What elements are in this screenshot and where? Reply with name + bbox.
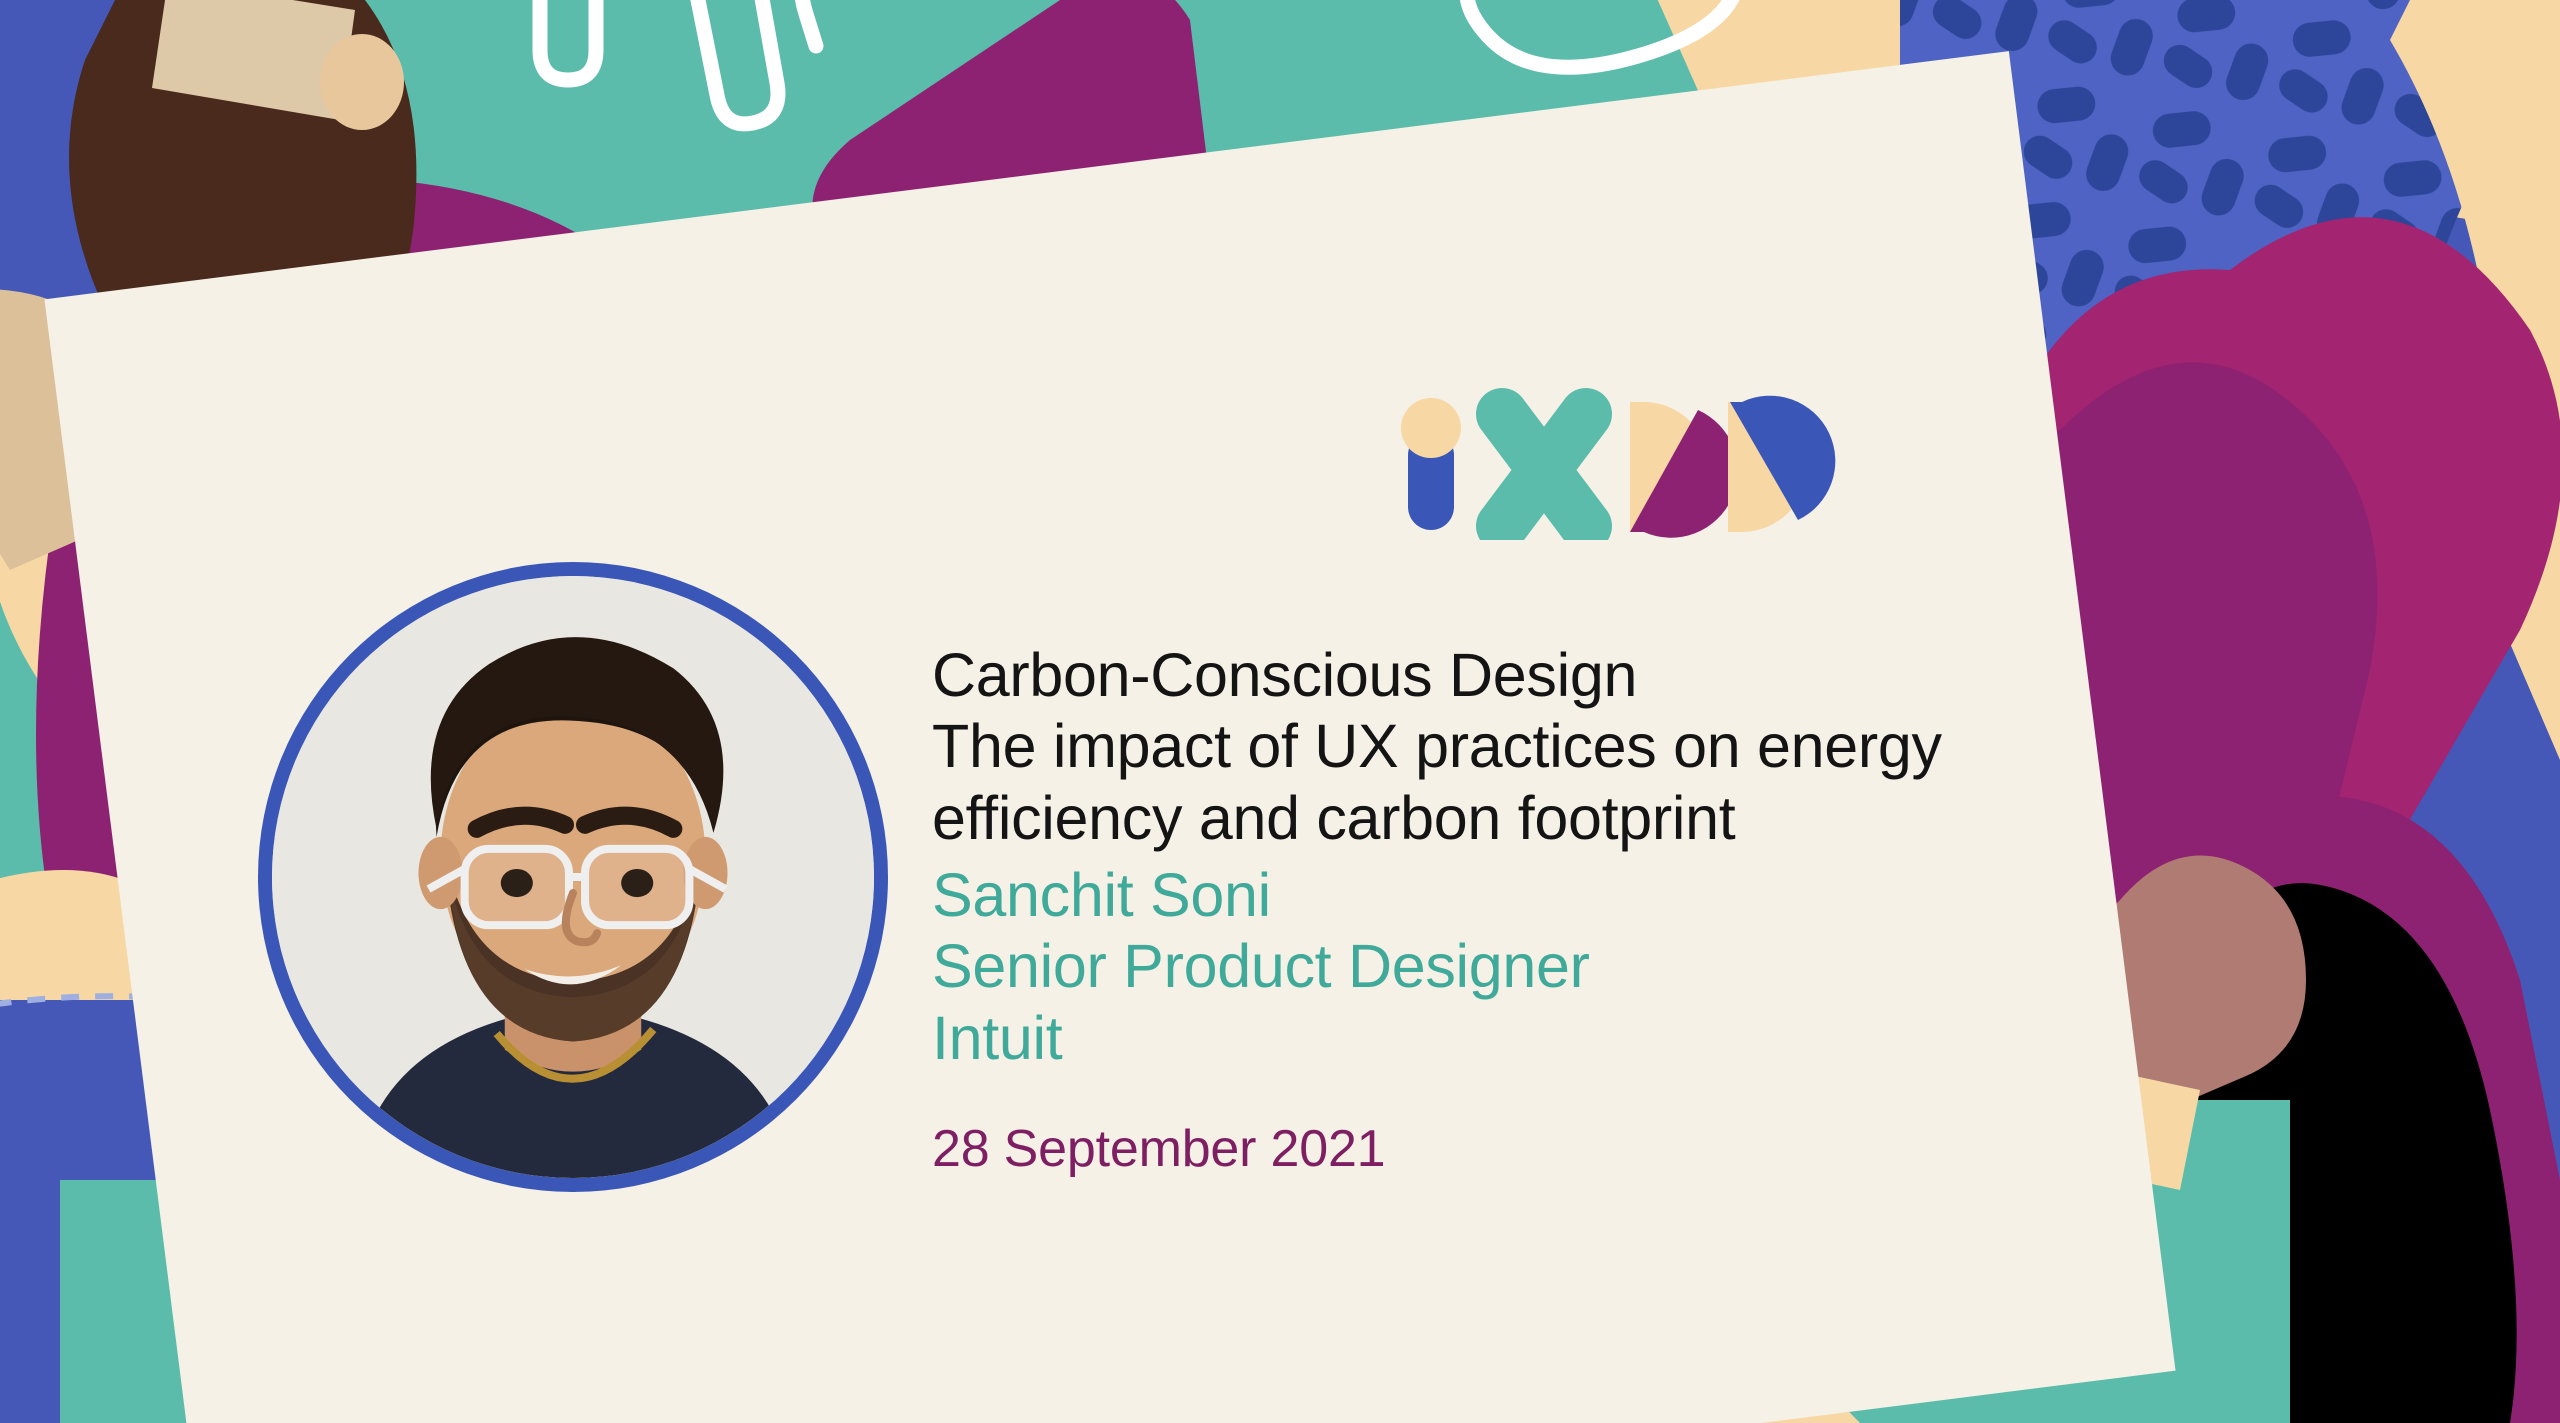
ixdd-logo-glyphs	[1398, 380, 1838, 540]
avatar-eye-right	[621, 869, 653, 897]
speaker-block: Sanchit Soni Senior Product Designer Int…	[932, 860, 2112, 1074]
slide-root: Carbon-Conscious Design The impact of UX…	[0, 0, 2560, 1423]
logo-letter-x	[1502, 414, 1586, 526]
avatar	[272, 576, 874, 1178]
logo-letter-d-1	[1630, 402, 1738, 538]
speaker-role: Senior Product Designer	[932, 931, 2112, 1002]
speaker-avatar-ring	[258, 562, 888, 1192]
logo-letter-i-dot	[1401, 398, 1461, 458]
speaker-name: Sanchit Soni	[932, 860, 2112, 931]
event-date: 28 September 2021	[932, 1121, 2112, 1178]
card-content: Carbon-Conscious Design The impact of UX…	[0, 0, 2560, 1423]
talk-title: Carbon-Conscious Design The impact of UX…	[932, 640, 2112, 854]
talk-info-block: Carbon-Conscious Design The impact of UX…	[932, 640, 2112, 1178]
ixdd-logo[interactable]	[1398, 380, 1838, 540]
speaker-company: Intuit	[932, 1003, 2112, 1074]
avatar-eye-left	[501, 869, 533, 897]
logo-letter-d-2	[1728, 396, 1835, 532]
avatar-portrait	[272, 576, 874, 1178]
